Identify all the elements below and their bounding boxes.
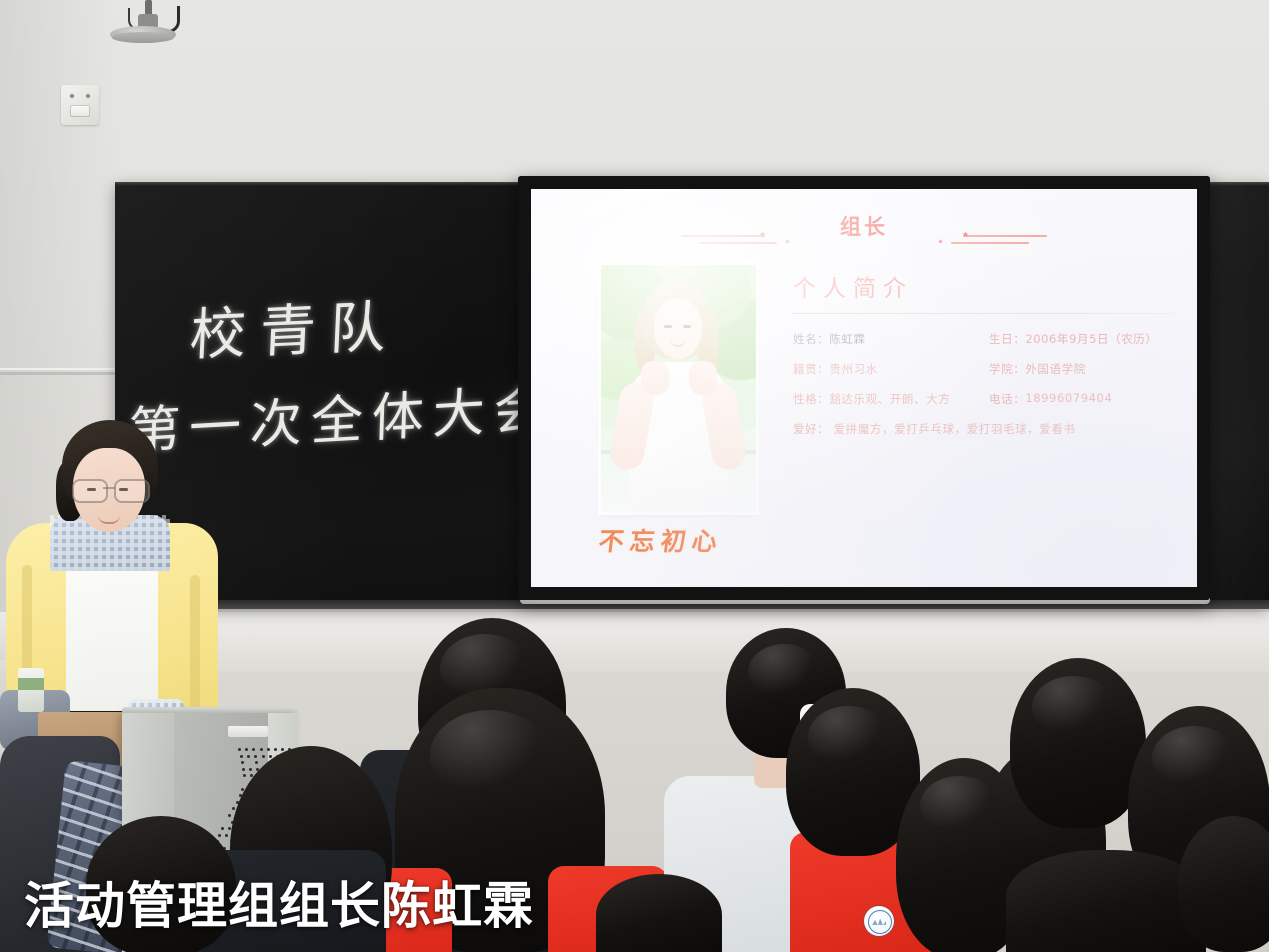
audience-head	[596, 874, 722, 952]
eyeglasses-icon	[114, 479, 150, 503]
audience-head	[1006, 850, 1206, 952]
chalk-text-line-1: 校青队	[188, 281, 402, 371]
wall-seam	[0, 372, 120, 375]
wall-switch-plate[interactable]	[61, 85, 99, 125]
switch-rocker[interactable]	[70, 105, 90, 117]
blackboard-sheen-right	[1205, 182, 1269, 608]
eyeglass-bridge	[103, 487, 115, 489]
switch-screw-icon	[70, 94, 74, 98]
organization-badge	[864, 906, 894, 936]
display-bezel	[518, 176, 1210, 600]
eyeglasses-icon	[72, 479, 108, 503]
screenshot-root: 校青队 第一次全体大会 组长	[0, 0, 1269, 952]
video-caption: 活动管理组组长陈虹霖	[24, 866, 534, 938]
wall-seam-highlight	[0, 368, 120, 370]
switch-screw-icon	[86, 94, 90, 98]
fixture-disc-inner	[112, 32, 174, 43]
